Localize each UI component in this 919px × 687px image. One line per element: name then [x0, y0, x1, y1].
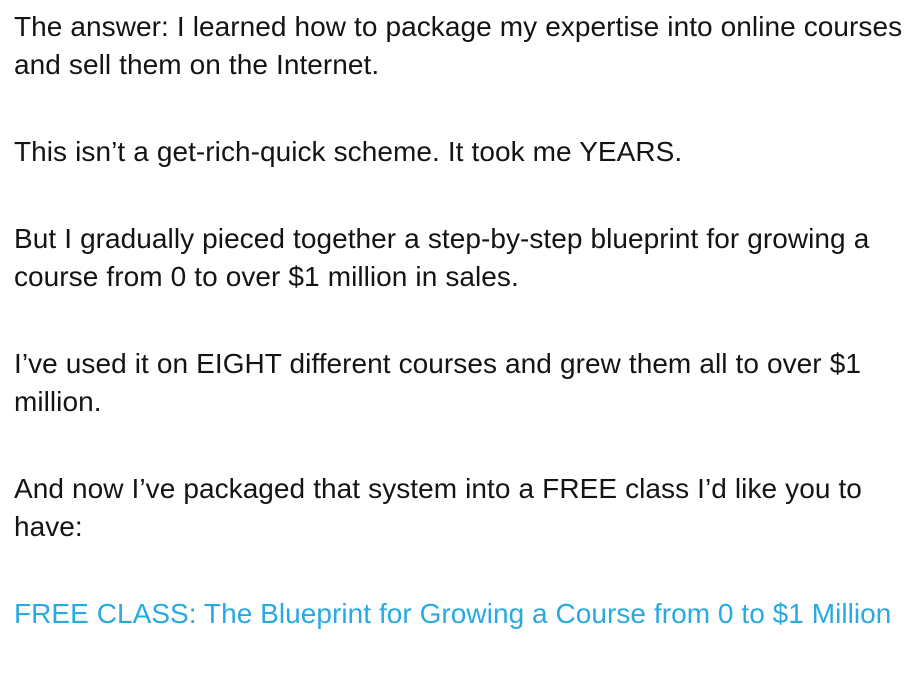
- free-class-link[interactable]: FREE CLASS: The Blueprint for Growing a …: [14, 598, 891, 630]
- paragraph-eight-courses: I’ve used it on EIGHT different courses …: [14, 345, 907, 421]
- paragraph-free-class-intro: And now I’ve packaged that system into a…: [14, 470, 907, 546]
- free-class-link-container: FREE CLASS: The Blueprint for Growing a …: [14, 595, 907, 633]
- document-page: The answer: I learned how to package my …: [0, 0, 919, 687]
- paragraph-not-get-rich-quick: This isn’t a get-rich-quick scheme. It t…: [14, 133, 907, 171]
- paragraph-blueprint: But I gradually pieced together a step-b…: [14, 220, 907, 296]
- article-body: The answer: I learned how to package my …: [14, 0, 907, 633]
- paragraph-answer: The answer: I learned how to package my …: [14, 8, 907, 84]
